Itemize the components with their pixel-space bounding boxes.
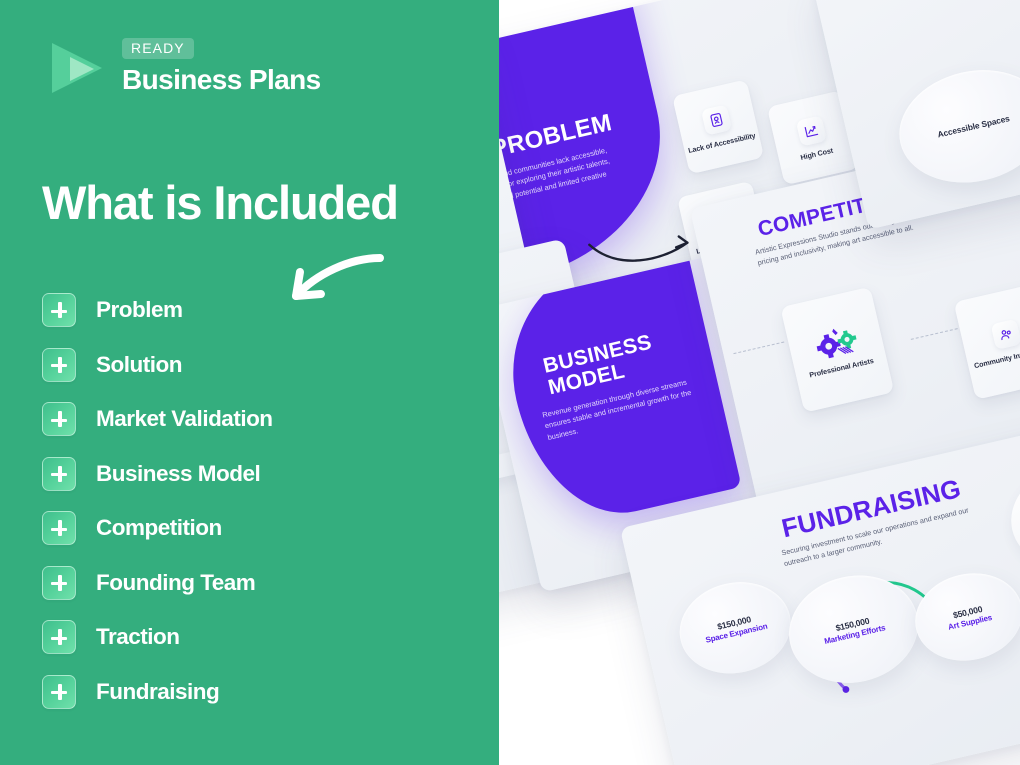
- included-item-label: Competition: [96, 515, 222, 541]
- included-item-label: Solution: [96, 352, 182, 378]
- included-item-label: Problem: [96, 297, 183, 323]
- card-label: Community Integration: [973, 344, 1020, 370]
- included-item-founding-team[interactable]: Founding Team: [42, 556, 462, 611]
- included-item-market-validation[interactable]: Market Validation: [42, 392, 462, 447]
- included-items-list: Problem Solution Market Validation Busin…: [42, 283, 462, 719]
- left-info-panel: READY Business Plans What is Included Pr…: [0, 0, 499, 765]
- page-title: What is Included: [42, 178, 398, 227]
- play-triangle-icon: [46, 37, 108, 99]
- brand-lockup: READY Business Plans: [46, 34, 321, 99]
- ready-badge: READY: [122, 38, 194, 59]
- brand-title: Business Plans: [122, 65, 321, 94]
- included-item-label: Business Model: [96, 461, 260, 487]
- accessibility-badge-icon: [701, 104, 732, 135]
- connector-dashed-line: [911, 328, 958, 340]
- competition-card-community-integration[interactable]: Community Integration: [954, 283, 1020, 400]
- included-item-solution[interactable]: Solution: [42, 338, 462, 393]
- included-item-traction[interactable]: Traction: [42, 610, 462, 665]
- plus-icon[interactable]: [42, 457, 76, 491]
- included-item-label: Market Validation: [96, 406, 273, 432]
- plus-icon[interactable]: [42, 675, 76, 709]
- included-item-fundraising[interactable]: Fundraising: [42, 665, 462, 720]
- gears-icon: [811, 322, 861, 363]
- card-label: Lack of Accessibility: [687, 130, 756, 154]
- brand-text-block: READY Business Plans: [122, 34, 321, 94]
- plus-icon[interactable]: [42, 511, 76, 545]
- plus-icon[interactable]: [42, 402, 76, 436]
- included-item-label: Traction: [96, 624, 180, 650]
- included-item-problem[interactable]: Problem: [42, 283, 462, 338]
- slide-deck-preview: THE PROBLEM Many individuals and communi…: [499, 0, 1020, 765]
- problem-card-accessibility[interactable]: Lack of Accessibility: [672, 79, 764, 174]
- connector-dashed-line: [733, 341, 784, 354]
- plus-icon[interactable]: [42, 293, 76, 327]
- included-item-business-model[interactable]: Business Model: [42, 447, 462, 502]
- included-item-label: Founding Team: [96, 570, 255, 596]
- chart-up-icon: [796, 115, 827, 146]
- community-icon: [990, 318, 1020, 349]
- card-label: Accessible Spaces: [936, 113, 1010, 140]
- included-item-label: Fundraising: [96, 679, 219, 705]
- card-label: High Cost: [799, 145, 833, 161]
- deck-rotated-layer: THE PROBLEM Many individuals and communi…: [499, 0, 1020, 765]
- plus-icon[interactable]: [42, 348, 76, 382]
- included-item-competition[interactable]: Competition: [42, 501, 462, 556]
- poster-stage: THE PROBLEM Many individuals and communi…: [0, 0, 1020, 765]
- plus-icon[interactable]: [42, 566, 76, 600]
- competition-card-professional-artists[interactable]: Professional Artists: [780, 287, 894, 413]
- plus-icon[interactable]: [42, 620, 76, 654]
- solution-bubble-accessible-spaces[interactable]: Accessible Spaces: [888, 56, 1020, 197]
